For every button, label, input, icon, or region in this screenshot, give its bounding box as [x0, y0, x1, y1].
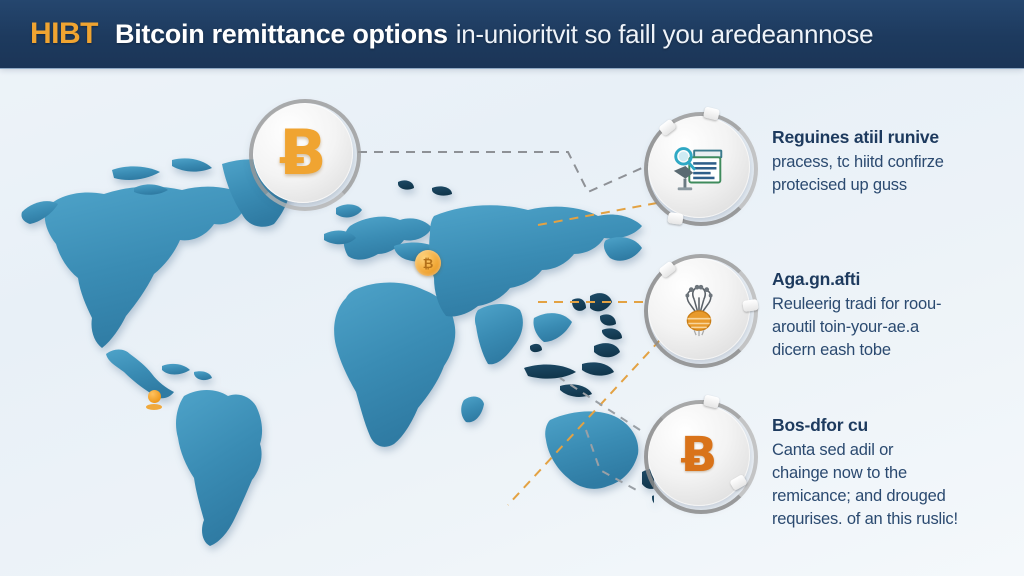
network-coin-icon — [668, 278, 730, 340]
infographic-canvas: HIBT Bitcoin remittance options in-unior… — [0, 0, 1024, 576]
callout-3-body-line: remicance; and drouged — [772, 485, 958, 508]
eurasia-coin-marker: ₿ — [415, 250, 441, 276]
callout-2-body-line: Reuleerig tradi for roou- — [772, 293, 941, 316]
callout-2-body: Reuleerig tradi for roou- aroutil toin-y… — [772, 293, 941, 362]
bitcoin-icon: Ƀ — [681, 431, 718, 479]
callout-2-title: Aga.gn.afti — [772, 268, 941, 291]
callout-1-badge[interactable] — [648, 116, 750, 218]
callout-1-body-line: protecised up guss — [772, 174, 944, 197]
callout-1-text: Reguines atiil runive pracess, tc hiitd … — [772, 116, 944, 197]
callout-1[interactable]: Reguines atiil runive pracess, tc hiitd … — [648, 116, 944, 218]
south-america-marker — [145, 390, 163, 414]
callout-3-body-line: Canta sed adil or — [772, 439, 958, 462]
callout-2[interactable]: Aga.gn.afti Reuleerig tradi for roou- ar… — [648, 258, 941, 362]
badge-notch-icon — [742, 299, 758, 312]
callout-3-text: Bos-dfor cu Canta sed adil or chainge no… — [772, 404, 958, 531]
world-map — [0, 150, 654, 550]
callout-3-body-line: chainge now to the — [772, 462, 958, 485]
bitcoin-icon: Ƀ — [279, 122, 326, 184]
badge-notch-icon — [703, 394, 720, 408]
callout-2-body-line: aroutil toin-your-ae.a — [772, 316, 941, 339]
badge-notch-icon — [658, 119, 677, 137]
badge-notch-icon — [729, 474, 747, 491]
header-bar: HIBT Bitcoin remittance options in-unior… — [0, 0, 1024, 68]
page-title-rest: in-unioritvit so faill you aredeannnose — [456, 19, 874, 50]
bitcoin-hub-badge[interactable]: Ƀ — [253, 103, 353, 203]
brand-logo: HIBT — [30, 17, 98, 51]
document-search-icon — [668, 136, 730, 198]
marker-pin-head — [148, 390, 161, 403]
badge-notch-icon — [667, 212, 683, 225]
header-title-group: HIBT Bitcoin remittance options in-unior… — [0, 17, 873, 51]
callout-3-badge[interactable]: Ƀ — [648, 404, 750, 506]
callout-1-title: Reguines atiil runive — [772, 126, 944, 149]
callout-3-title: Bos-dfor cu — [772, 414, 958, 437]
marker-pin-base — [146, 404, 162, 410]
page-title-strong: Bitcoin remittance options — [115, 19, 448, 50]
callout-2-body-line: dicern eash tobe — [772, 339, 941, 362]
callout-2-badge[interactable] — [648, 258, 750, 360]
callout-3-body: Canta sed adil or chainge now to the rem… — [772, 439, 958, 531]
callout-3[interactable]: Ƀ Bos-dfor cu Canta sed adil or chainge … — [648, 404, 958, 531]
callout-1-body: pracess, tc hiitd confirze protecised up… — [772, 151, 944, 197]
callout-2-text: Aga.gn.afti Reuleerig tradi for roou- ar… — [772, 258, 941, 362]
badge-notch-icon — [658, 261, 677, 279]
callout-1-body-line: pracess, tc hiitd confirze — [772, 151, 944, 174]
bitcoin-coin-glyph: ₿ — [423, 256, 434, 271]
badge-notch-icon — [703, 106, 720, 120]
callout-3-body-line: requrises. of an this ruslic! — [772, 508, 958, 531]
